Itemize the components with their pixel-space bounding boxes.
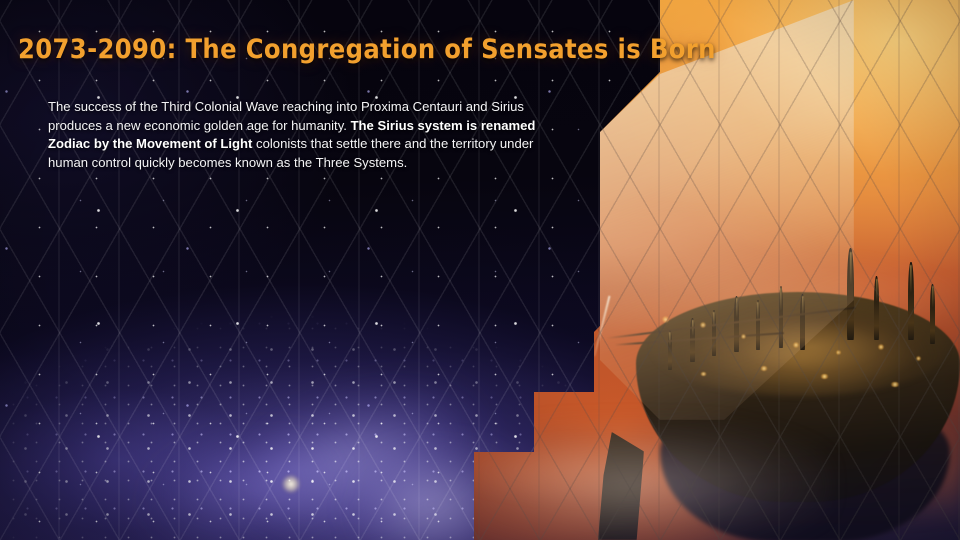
body-paragraph: The success of the Third Colonial Wave r… — [48, 98, 548, 172]
city-light — [820, 374, 829, 379]
city-light — [916, 356, 921, 361]
page-title: 2073-2090: The Congregation of Sensates … — [18, 34, 716, 65]
city-light — [836, 350, 841, 355]
city-light — [890, 382, 900, 387]
city-light — [878, 344, 884, 350]
city-spire — [908, 262, 914, 340]
bright-star — [281, 474, 301, 494]
presentation-slide: 2073-2090: The Congregation of Sensates … — [0, 0, 960, 540]
city-spire — [874, 276, 879, 340]
city-spire — [930, 284, 935, 344]
